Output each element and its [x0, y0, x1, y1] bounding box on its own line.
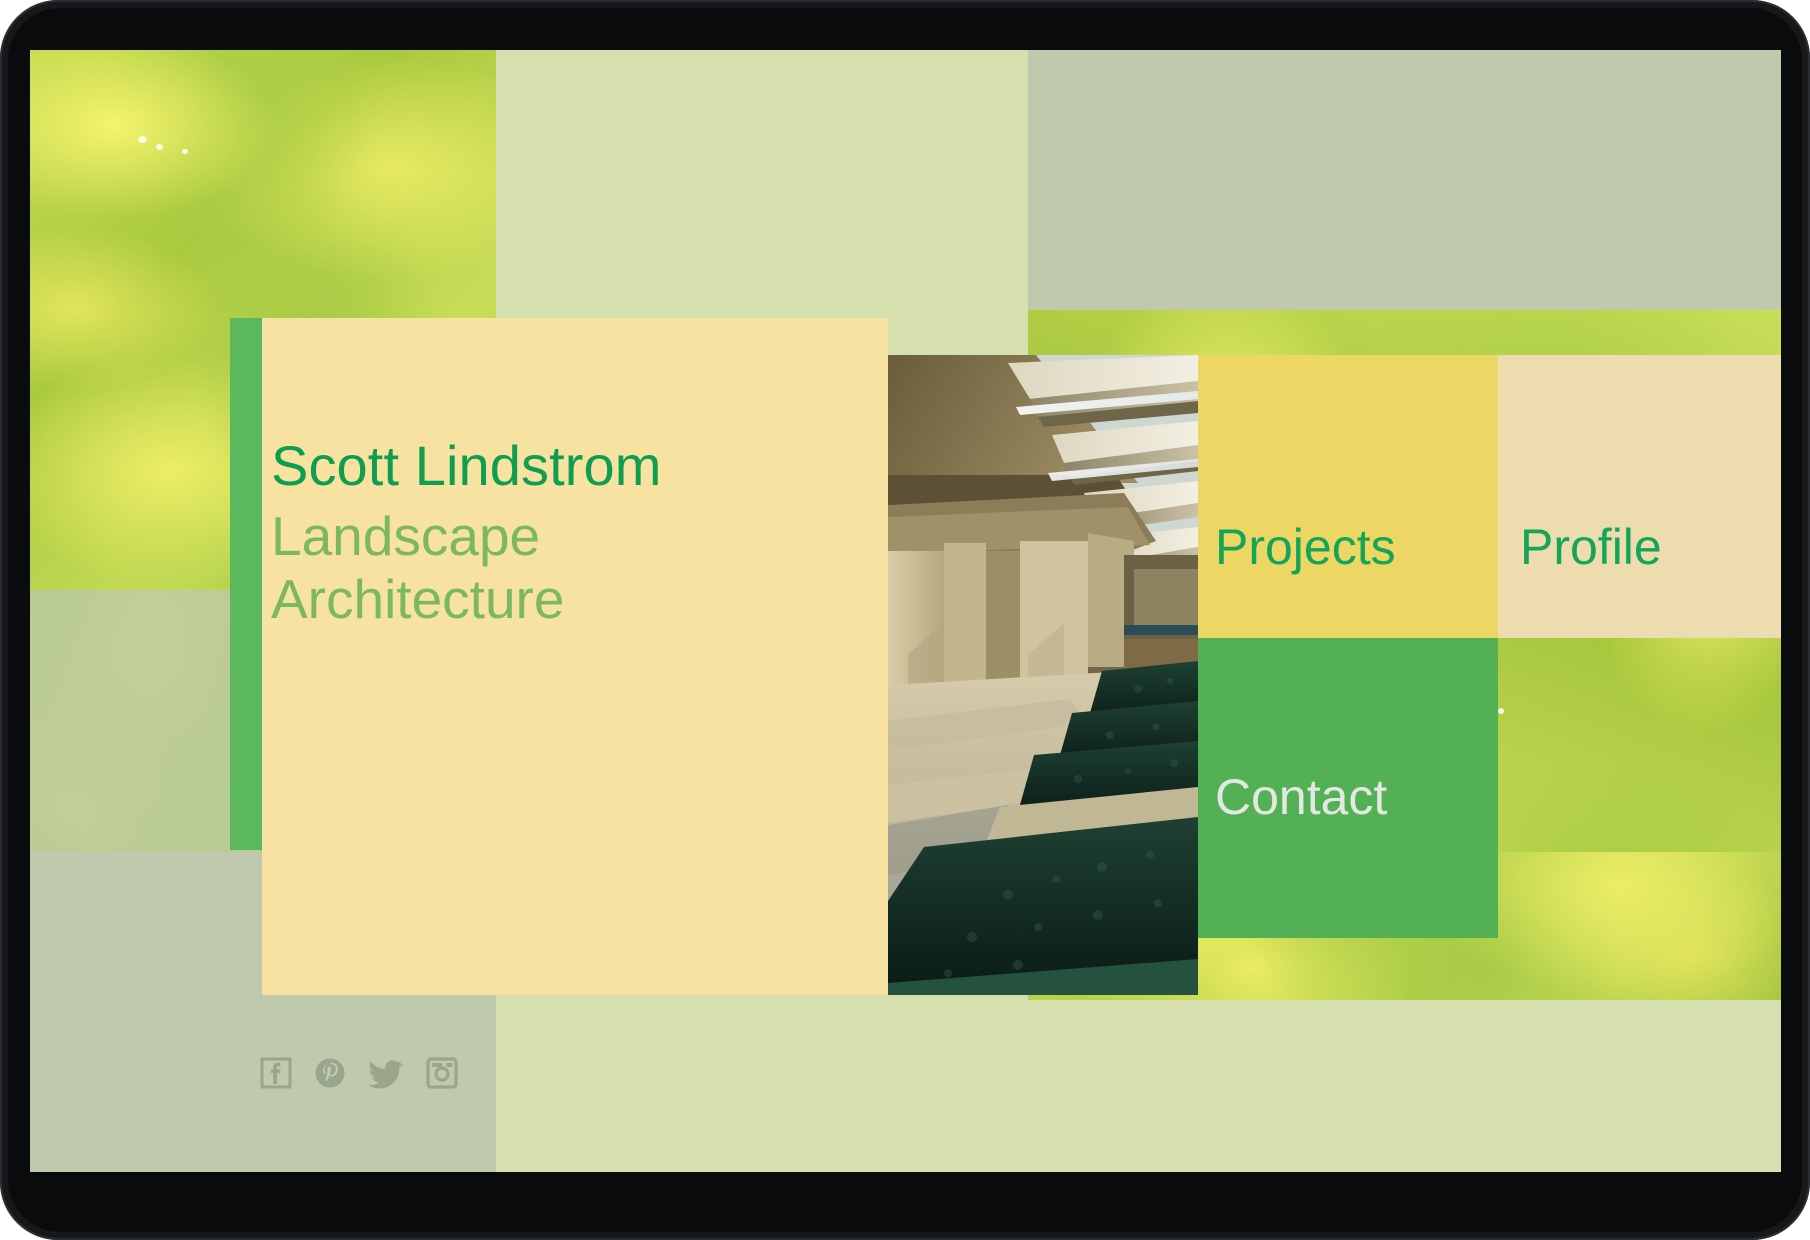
brand-card [262, 318, 888, 995]
nav-contact-label[interactable]: Contact [1215, 768, 1387, 826]
bg-tile-pale-bottom-right [1028, 1000, 1781, 1172]
tablet-device: Scott Lindstrom Landscape Architecture P… [0, 0, 1810, 1240]
bg-tile-pale-top-center [496, 50, 1028, 310]
page-title: Scott Lindstrom [271, 436, 662, 495]
facebook-icon[interactable] [258, 1055, 294, 1091]
nav-projects[interactable] [1198, 355, 1498, 638]
nav-projects-label[interactable]: Projects [1215, 518, 1396, 576]
nav-profile[interactable] [1498, 355, 1781, 638]
nav-profile-label[interactable]: Profile [1520, 518, 1662, 576]
brand-accent-bar [230, 318, 262, 850]
bg-tile-gray-top-right [1028, 50, 1781, 310]
screen: Scott Lindstrom Landscape Architecture P… [30, 50, 1781, 1172]
instagram-icon[interactable] [424, 1055, 460, 1091]
page-tagline: Landscape Architecture [271, 505, 831, 630]
hero-photo [888, 355, 1198, 995]
social-links [258, 1055, 460, 1091]
hero-photo-artwork [888, 355, 1198, 995]
pinterest-icon[interactable] [312, 1055, 348, 1091]
twitter-icon[interactable] [366, 1055, 406, 1091]
